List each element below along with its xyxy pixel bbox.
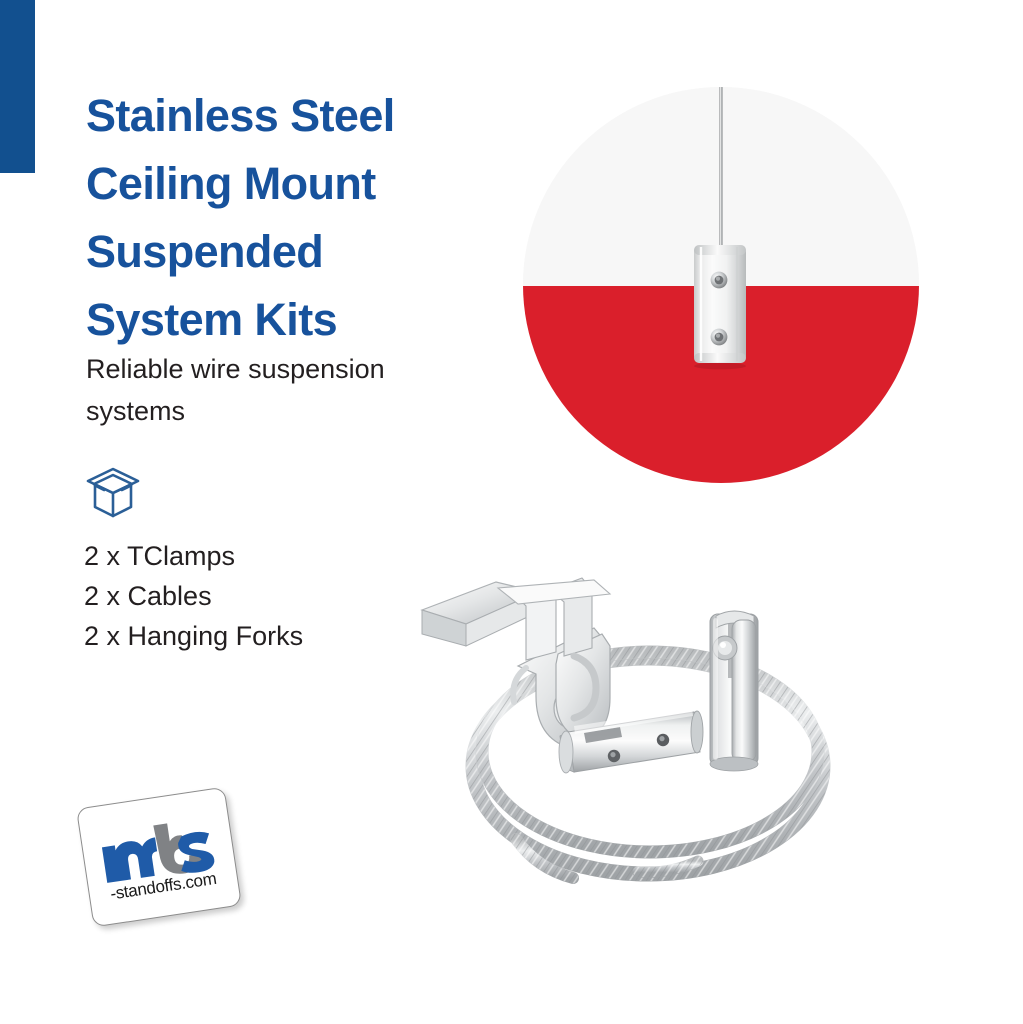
- brand-logo-card[interactable]: -standoffs.com: [76, 787, 242, 928]
- headline-line-2: Ceiling Mount: [86, 150, 506, 218]
- open-box-icon: [84, 466, 142, 520]
- top-left-accent-bar: [0, 0, 35, 173]
- headline-line-1: Stainless Steel: [86, 82, 506, 150]
- suspended-cable-grip-illustration: [523, 87, 919, 483]
- coiled-steel-cable: [473, 652, 823, 878]
- headline-block: Stainless Steel Ceiling Mount Suspended …: [86, 82, 506, 354]
- vertical-cable-grip: [710, 611, 758, 771]
- headline-line-3: Suspended: [86, 218, 506, 286]
- logo-content: -standoffs.com: [76, 787, 242, 928]
- t-clamp-assembly: [422, 578, 610, 748]
- subtitle-text: Reliable wire suspension systems: [86, 348, 466, 432]
- suspension-kit-components-photo: [398, 556, 868, 906]
- ceiling-mount-hero-circle: [523, 87, 919, 483]
- headline-line-4: System Kits: [86, 286, 506, 354]
- infographic-canvas: Stainless Steel Ceiling Mount Suspended …: [0, 0, 1023, 1024]
